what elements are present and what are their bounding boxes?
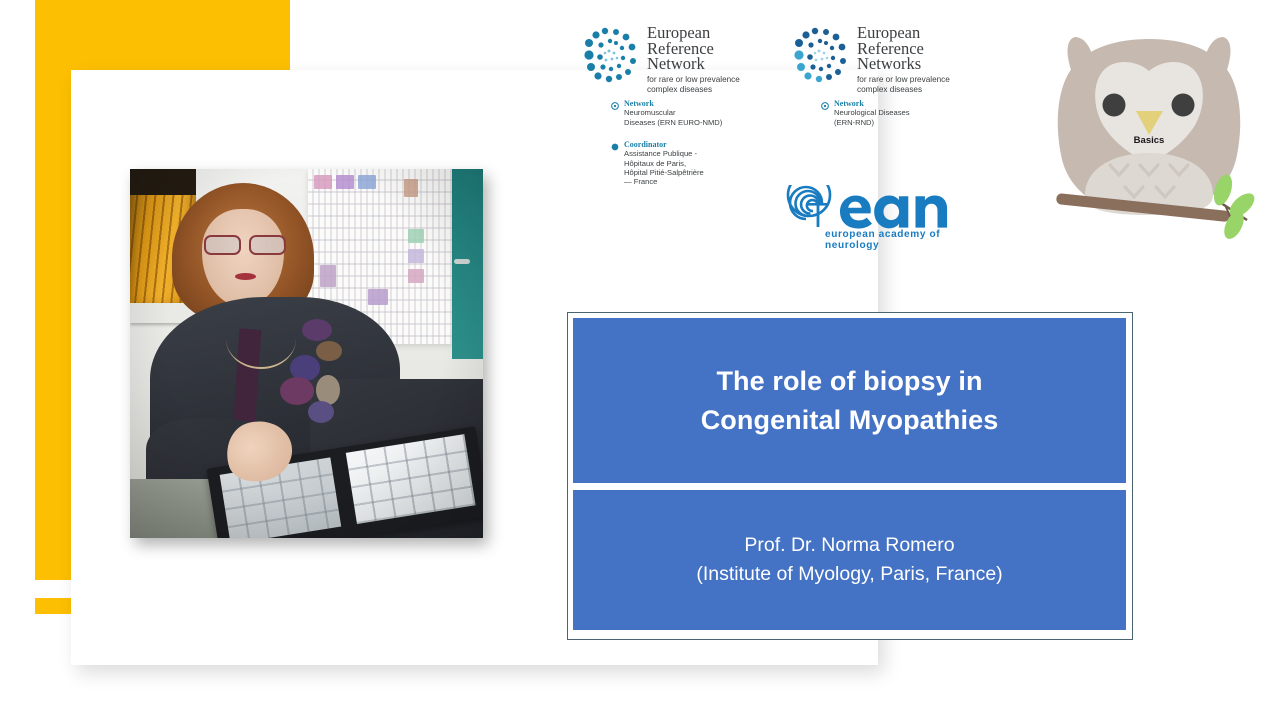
ern-rnd-network-label: Network [834, 99, 864, 108]
network-gear-icon [821, 102, 829, 110]
ean-tagline: european academy of neurology [825, 229, 994, 251]
ean-wordmark-icon [782, 185, 994, 233]
owl-mascot: Basics [1035, 15, 1263, 260]
ern-dots-icon [793, 27, 849, 83]
ern-rnd-network-value: Neurological Diseases (ERN-RND) [834, 108, 910, 126]
presentation-author: Prof. Dr. Norma Romero (Institute of Myo… [696, 531, 1002, 589]
ern-rnd-tagline: for rare or low prevalence complex disea… [857, 75, 982, 95]
ern-euro-nmd-coordinator-label: Coordinator [624, 140, 667, 149]
yellow-accent-square [35, 598, 71, 614]
ern-euro-nmd-network-value: Neuromuscular Diseases (ERN EURO-NMD) [624, 108, 722, 126]
ern-euro-nmd-network-label: Network [624, 99, 654, 108]
network-gear-icon [611, 102, 619, 110]
coordinator-dot-icon [611, 143, 619, 151]
presentation-title: The role of biopsy in Congenital Myopath… [701, 362, 999, 440]
ean-logo: european academy of neurology [782, 185, 994, 247]
ern-euro-nmd-tagline: for rare or low prevalence complex disea… [647, 75, 772, 95]
ern-rnd-title: European Reference Networks [857, 25, 924, 72]
owl-basics-label: Basics [1035, 135, 1263, 146]
subtitle-box: Prof. Dr. Norma Romero (Institute of Myo… [573, 490, 1126, 630]
title-box: The role of biopsy in Congenital Myopath… [573, 318, 1126, 483]
ern-euro-nmd-title: European Reference Network [647, 25, 714, 72]
ern-euro-nmd-coordinator-value: Assistance Publique - Hôpitaux de Paris,… [624, 149, 704, 186]
ern-dots-icon [583, 27, 639, 83]
